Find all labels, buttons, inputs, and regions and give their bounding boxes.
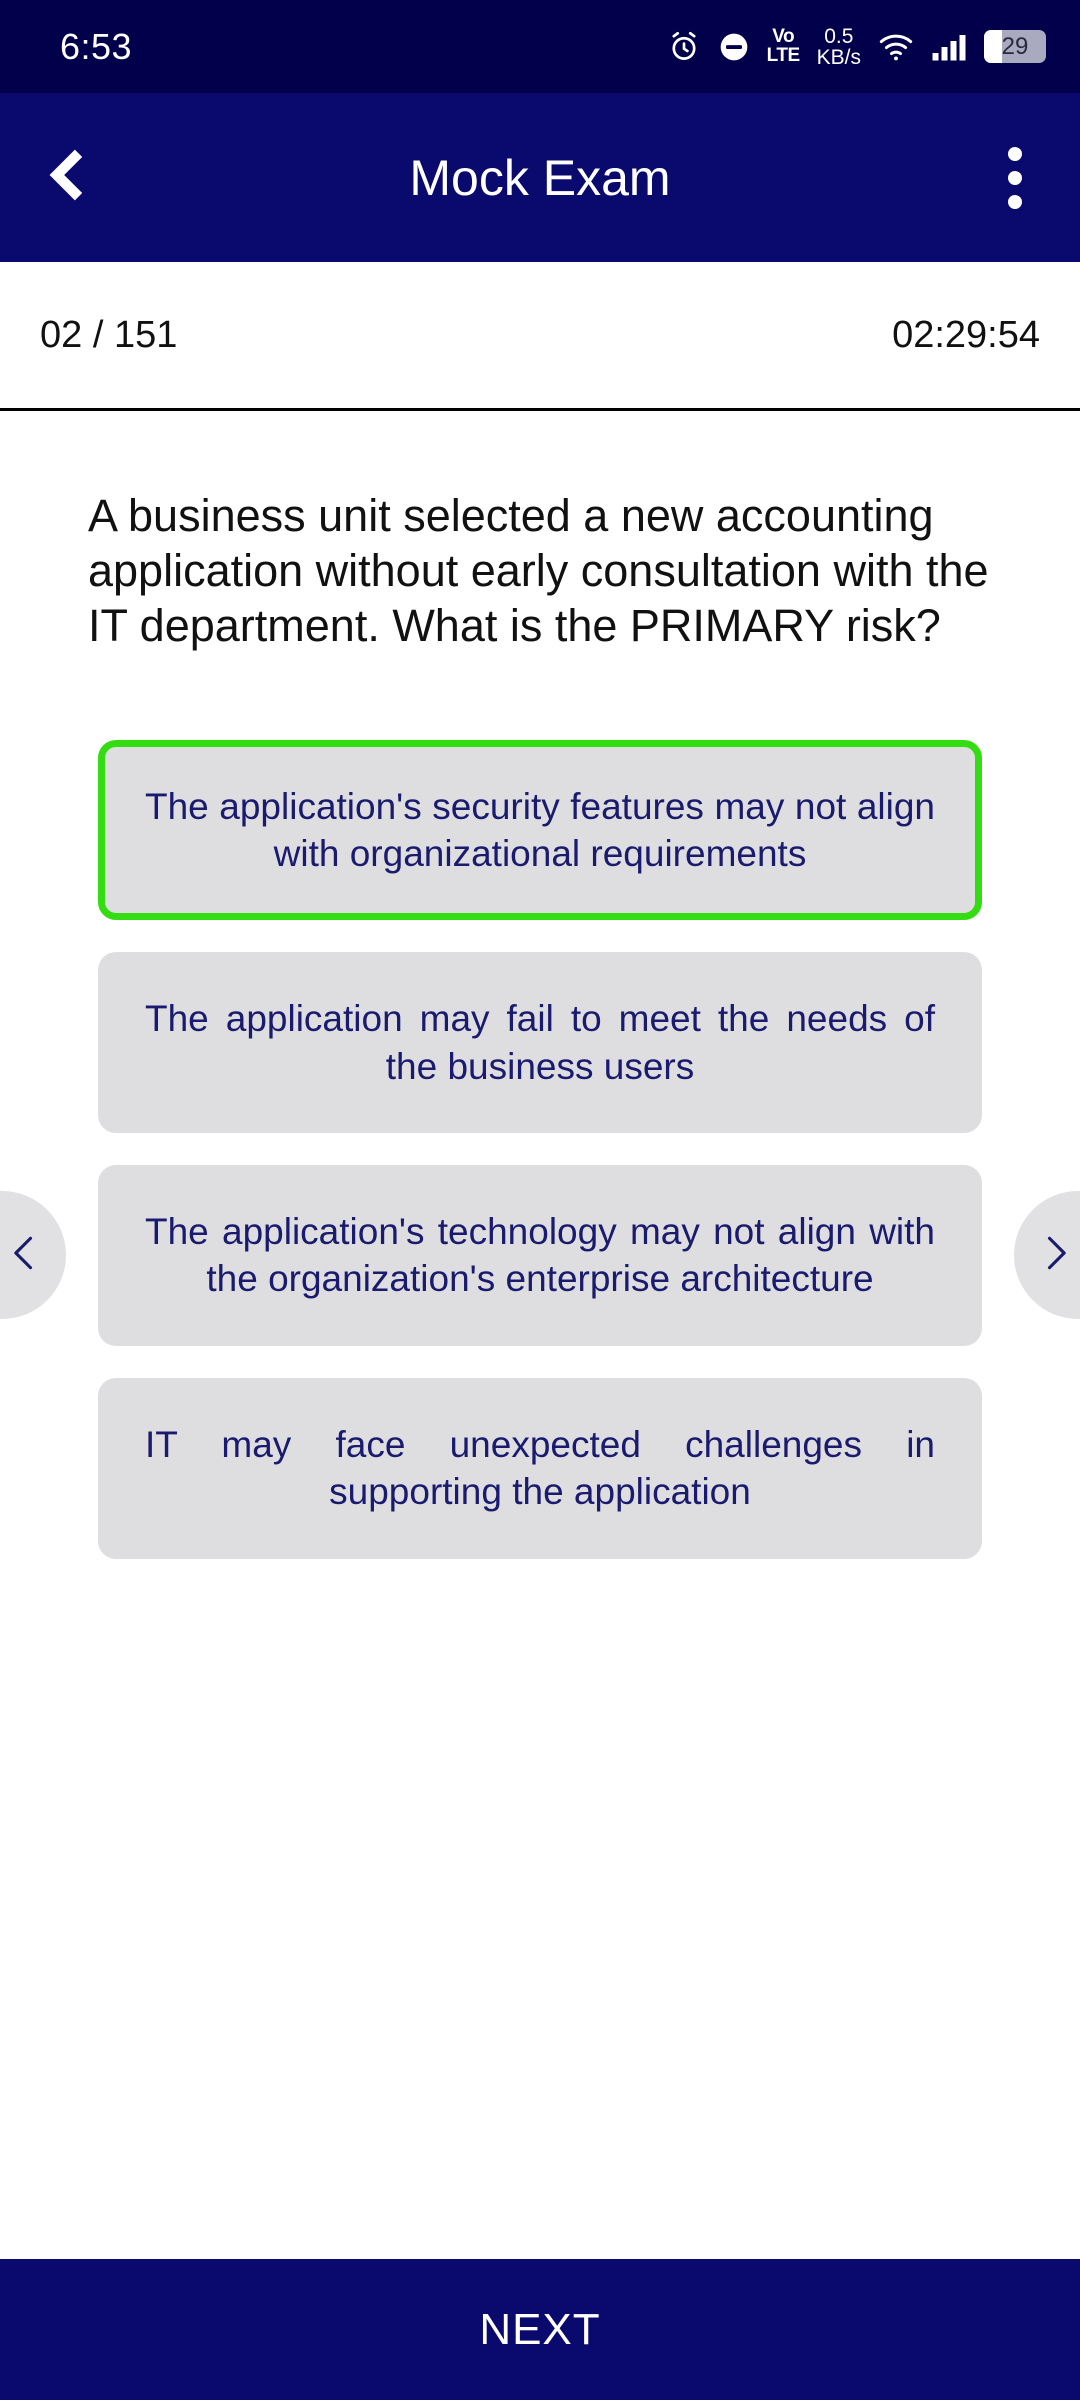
question-text: A business unit selected a new accountin… — [0, 411, 1080, 654]
status-icons: Vo LTE 0.5 KB/s 29 — [667, 26, 1046, 68]
answer-option[interactable]: The application may fail to meet the nee… — [98, 952, 982, 1133]
page-title: Mock Exam — [0, 149, 1080, 207]
battery-icon: 29 — [984, 30, 1046, 63]
next-chevron-icon — [1033, 1231, 1077, 1280]
network-speed-indicator: 0.5 KB/s — [817, 26, 861, 68]
cellular-signal-icon — [931, 32, 967, 62]
status-clock: 6:53 — [60, 26, 132, 68]
progress-row: 02 / 151 02:29:54 — [0, 262, 1080, 408]
overflow-menu-button[interactable] — [972, 130, 1058, 226]
answer-option[interactable]: The application's security features may … — [98, 740, 982, 921]
app-bar: Mock Exam — [0, 93, 1080, 262]
volte-icon: Vo LTE — [767, 28, 800, 64]
wifi-icon — [878, 32, 914, 62]
exam-timer: 02:29:54 — [892, 314, 1040, 357]
status-bar: 6:53 Vo LTE 0.5 KB/s — [0, 0, 1080, 93]
alarm-icon — [667, 30, 701, 64]
prev-chevron-icon — [3, 1231, 47, 1280]
overflow-menu-icon — [1008, 195, 1022, 209]
back-button[interactable] — [22, 133, 112, 223]
next-button[interactable]: NEXT — [0, 2259, 1080, 2400]
network-speed-value: 0.5 — [824, 26, 853, 47]
overflow-menu-icon — [1008, 147, 1022, 161]
back-chevron-icon — [40, 148, 94, 207]
answer-options-list: The application's security features may … — [0, 740, 1080, 1559]
battery-level: 29 — [1002, 33, 1029, 61]
overflow-menu-icon — [1008, 171, 1022, 185]
answer-option[interactable]: The application's technology may not ali… — [98, 1165, 982, 1346]
answer-option[interactable]: IT may face unexpected challenges in sup… — [98, 1378, 982, 1559]
network-speed-unit: KB/s — [817, 47, 861, 68]
question-counter: 02 / 151 — [40, 314, 177, 357]
do-not-disturb-icon — [718, 31, 750, 63]
battery-fill — [984, 30, 1002, 63]
